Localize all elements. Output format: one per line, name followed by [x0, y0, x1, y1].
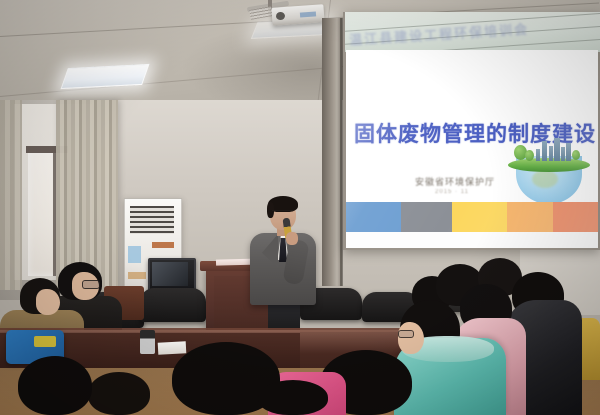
bar-gray [401, 202, 451, 232]
audience-head [18, 356, 92, 415]
building-icon [542, 141, 547, 161]
monitor-screen [152, 262, 188, 286]
audience-face [36, 289, 60, 315]
curtain [0, 100, 22, 290]
slide-color-bars [346, 202, 598, 232]
notepad [158, 341, 187, 354]
tree-icon [525, 150, 534, 161]
glasses-icon [398, 330, 414, 338]
audience-head [88, 372, 150, 415]
eco-globe-icon [498, 138, 596, 204]
banner-text: 温江县建设工程环保培训会 [349, 14, 600, 48]
presentation-photo: 温江县建设工程环保培训会 固体废物管理的制度建设 安徽省环境保护厅 2015 ·… [0, 0, 600, 415]
air-conditioner-label [128, 246, 141, 263]
presenter-hand [286, 232, 298, 245]
paper-cup [140, 330, 155, 354]
building-icon [554, 138, 560, 161]
wall-column [322, 18, 342, 286]
bar-light-orange [507, 202, 552, 232]
bar-salmon [553, 202, 598, 232]
building-icon [566, 143, 571, 161]
air-conditioner-tag [128, 272, 146, 279]
glasses-icon [272, 210, 294, 215]
projected-slide: 固体废物管理的制度建设 安徽省环境保护厅 2015 · 11 [346, 50, 598, 248]
air-conditioner-strip [152, 242, 174, 248]
audience-face [398, 322, 424, 354]
building-icon [549, 146, 553, 161]
bar-blue [346, 202, 401, 232]
tree-icon [572, 150, 580, 160]
building-icon [536, 149, 540, 161]
wall-banner: 温江县建设工程环保培训会 [345, 12, 600, 52]
presenter [246, 196, 320, 336]
glasses-icon [82, 280, 100, 289]
bar-yellow [452, 202, 507, 232]
bag-tag [34, 336, 56, 347]
globe-continent [532, 170, 558, 188]
slide-bottom-margin [346, 232, 598, 248]
building-icon [561, 147, 565, 161]
office-chair [140, 288, 206, 322]
audience-head [258, 380, 328, 415]
air-conditioner-vent [130, 206, 174, 234]
